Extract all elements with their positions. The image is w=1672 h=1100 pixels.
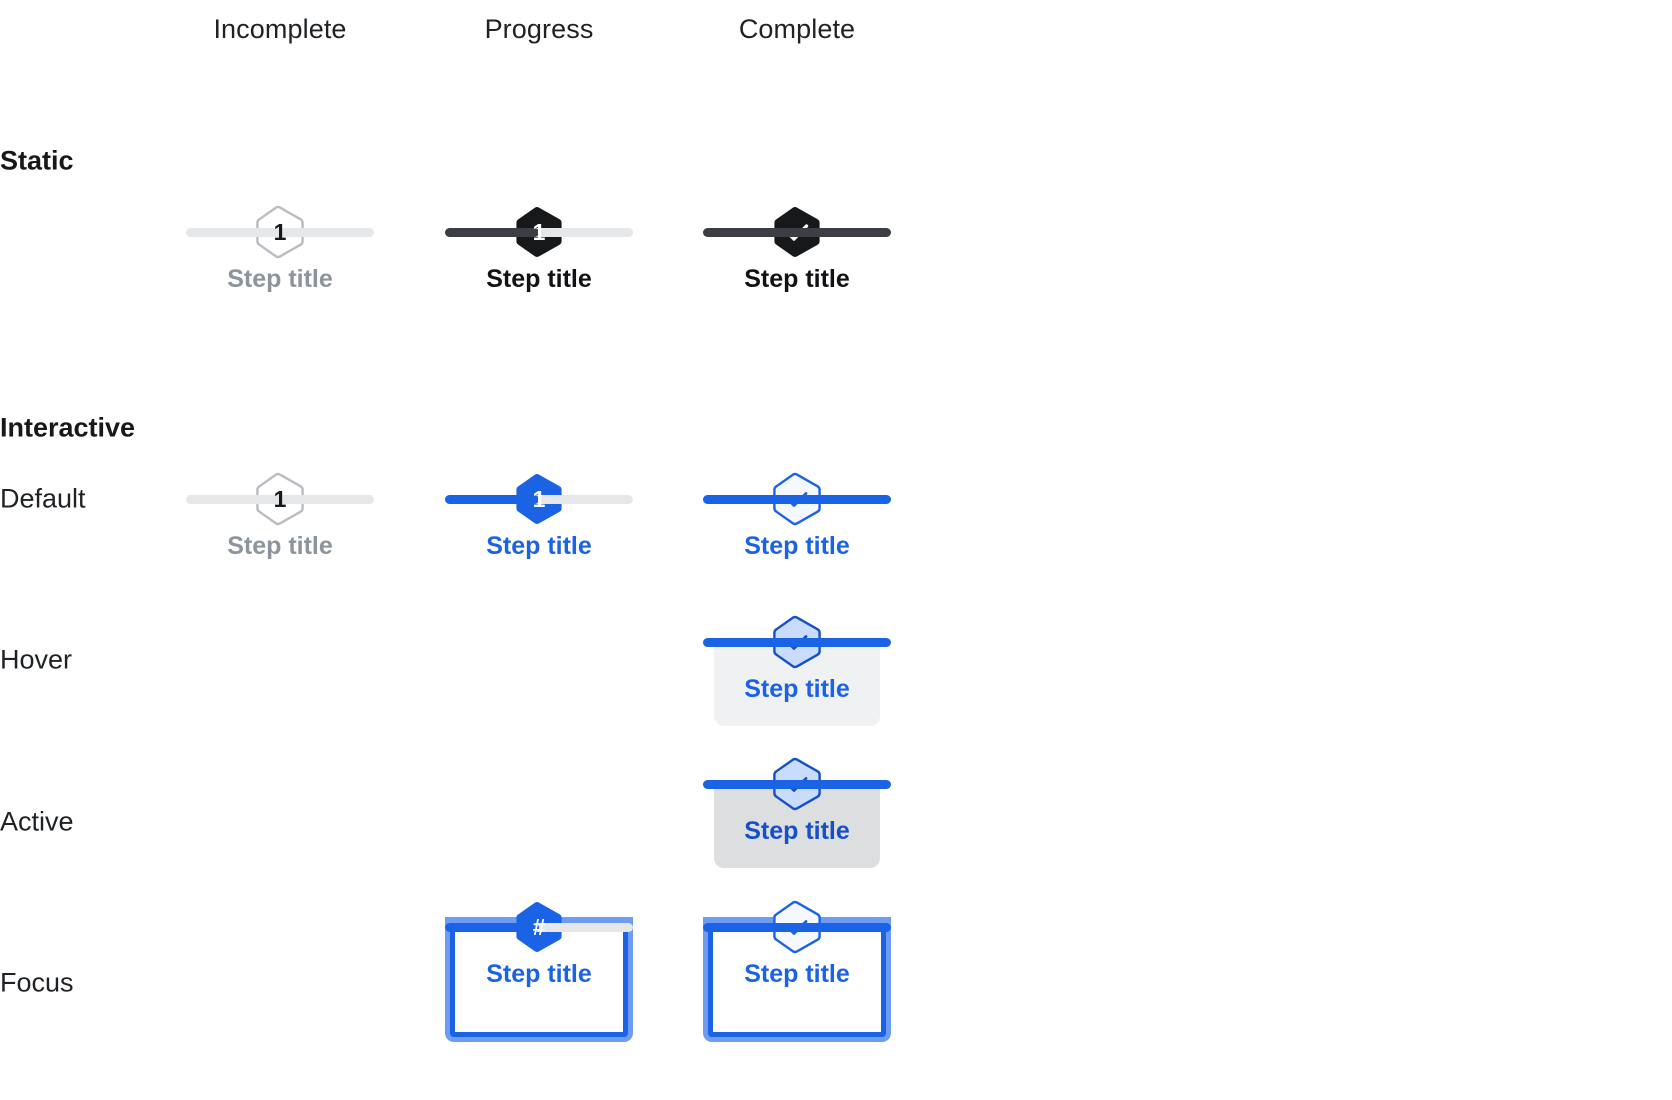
step-default-progress[interactable]: 1 Step title <box>445 474 633 561</box>
track-wrap <box>703 617 891 667</box>
step-bar <box>703 617 891 667</box>
step-bar <box>703 902 891 952</box>
step-marker-number: 1 <box>533 221 546 244</box>
step-marker-placeholder: # <box>533 916 546 939</box>
step-bar <box>703 207 891 257</box>
track-blue <box>703 780 891 789</box>
step-bar: 1 <box>186 207 374 257</box>
row-label-hover: Hover <box>0 645 72 676</box>
step-bar <box>703 474 891 524</box>
step-default-incomplete[interactable]: 1 Step title <box>186 474 374 561</box>
step-focus-progress[interactable]: # Step title <box>445 902 633 989</box>
step-title: Step title <box>445 531 633 561</box>
group-label-interactive: Interactive <box>0 413 135 444</box>
step-static-complete: Step title <box>703 207 891 294</box>
step-title: Step title <box>186 531 374 561</box>
step-bar: 1 <box>445 207 633 257</box>
step-title: Step title <box>703 264 891 294</box>
step-active-complete[interactable]: Step title <box>703 759 891 846</box>
step-hover-complete[interactable]: Step title <box>703 617 891 704</box>
step-marker-number: 1 <box>274 488 287 511</box>
step-focus-complete[interactable]: Step title <box>703 902 891 989</box>
step-marker-number: 1 <box>274 221 287 244</box>
step-title: Step title <box>703 531 891 561</box>
track-wrap <box>703 207 891 257</box>
track-blue <box>703 923 891 932</box>
row-label-active: Active <box>0 807 74 838</box>
track-wrap <box>703 759 891 809</box>
step-bar <box>703 759 891 809</box>
step-static-incomplete: 1 Step title <box>186 207 374 294</box>
step-bar: # <box>445 902 633 952</box>
step-title: Step title <box>703 816 891 846</box>
row-label-focus: Focus <box>0 968 74 999</box>
track-blue <box>703 638 891 647</box>
track-fill <box>445 923 539 932</box>
track-dark <box>703 228 891 237</box>
track-wrap <box>703 474 891 524</box>
step-marker-number: 1 <box>533 488 546 511</box>
stepper-specimen-sheet: Incomplete Progress Complete Static 1 St… <box>0 0 1672 1100</box>
step-title: Step title <box>703 959 891 989</box>
step-title: Step title <box>703 674 891 704</box>
column-header-incomplete: Incomplete <box>213 14 346 45</box>
step-title: Step title <box>445 959 633 989</box>
step-default-complete[interactable]: Step title <box>703 474 891 561</box>
step-title: Step title <box>186 264 374 294</box>
step-bar: 1 <box>186 474 374 524</box>
step-static-progress: 1 Step title <box>445 207 633 294</box>
track-fill <box>445 228 539 237</box>
step-bar: 1 <box>445 474 633 524</box>
track-fill <box>445 495 539 504</box>
step-title: Step title <box>445 264 633 294</box>
column-header-complete: Complete <box>739 14 855 45</box>
column-header-progress: Progress <box>485 14 594 45</box>
track-wrap <box>703 902 891 952</box>
row-label-default: Default <box>0 484 86 515</box>
group-label-static: Static <box>0 146 74 177</box>
track-blue <box>703 495 891 504</box>
